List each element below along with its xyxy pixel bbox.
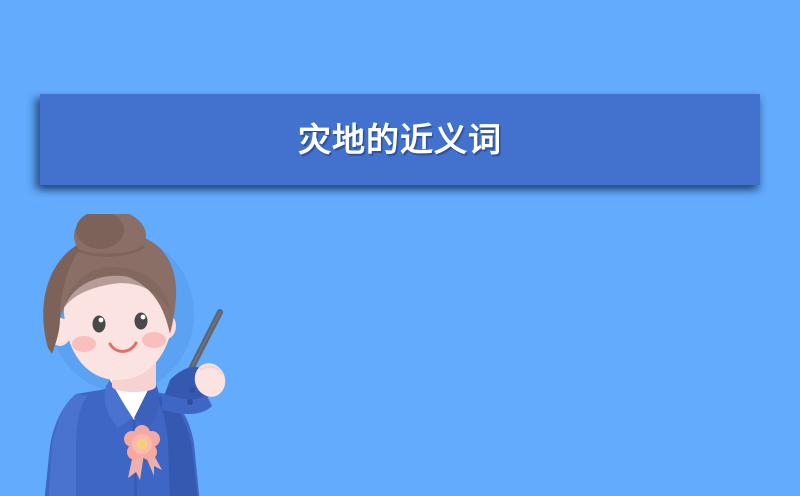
teacher-illustration: [14, 214, 254, 496]
page-title: 灾地的近义词: [298, 123, 502, 156]
cheek-left: [72, 336, 96, 352]
cheek-right: [142, 332, 166, 348]
title-banner: 灾地的近义词: [40, 94, 760, 185]
slide-canvas: 灾地的近义词: [0, 0, 800, 496]
